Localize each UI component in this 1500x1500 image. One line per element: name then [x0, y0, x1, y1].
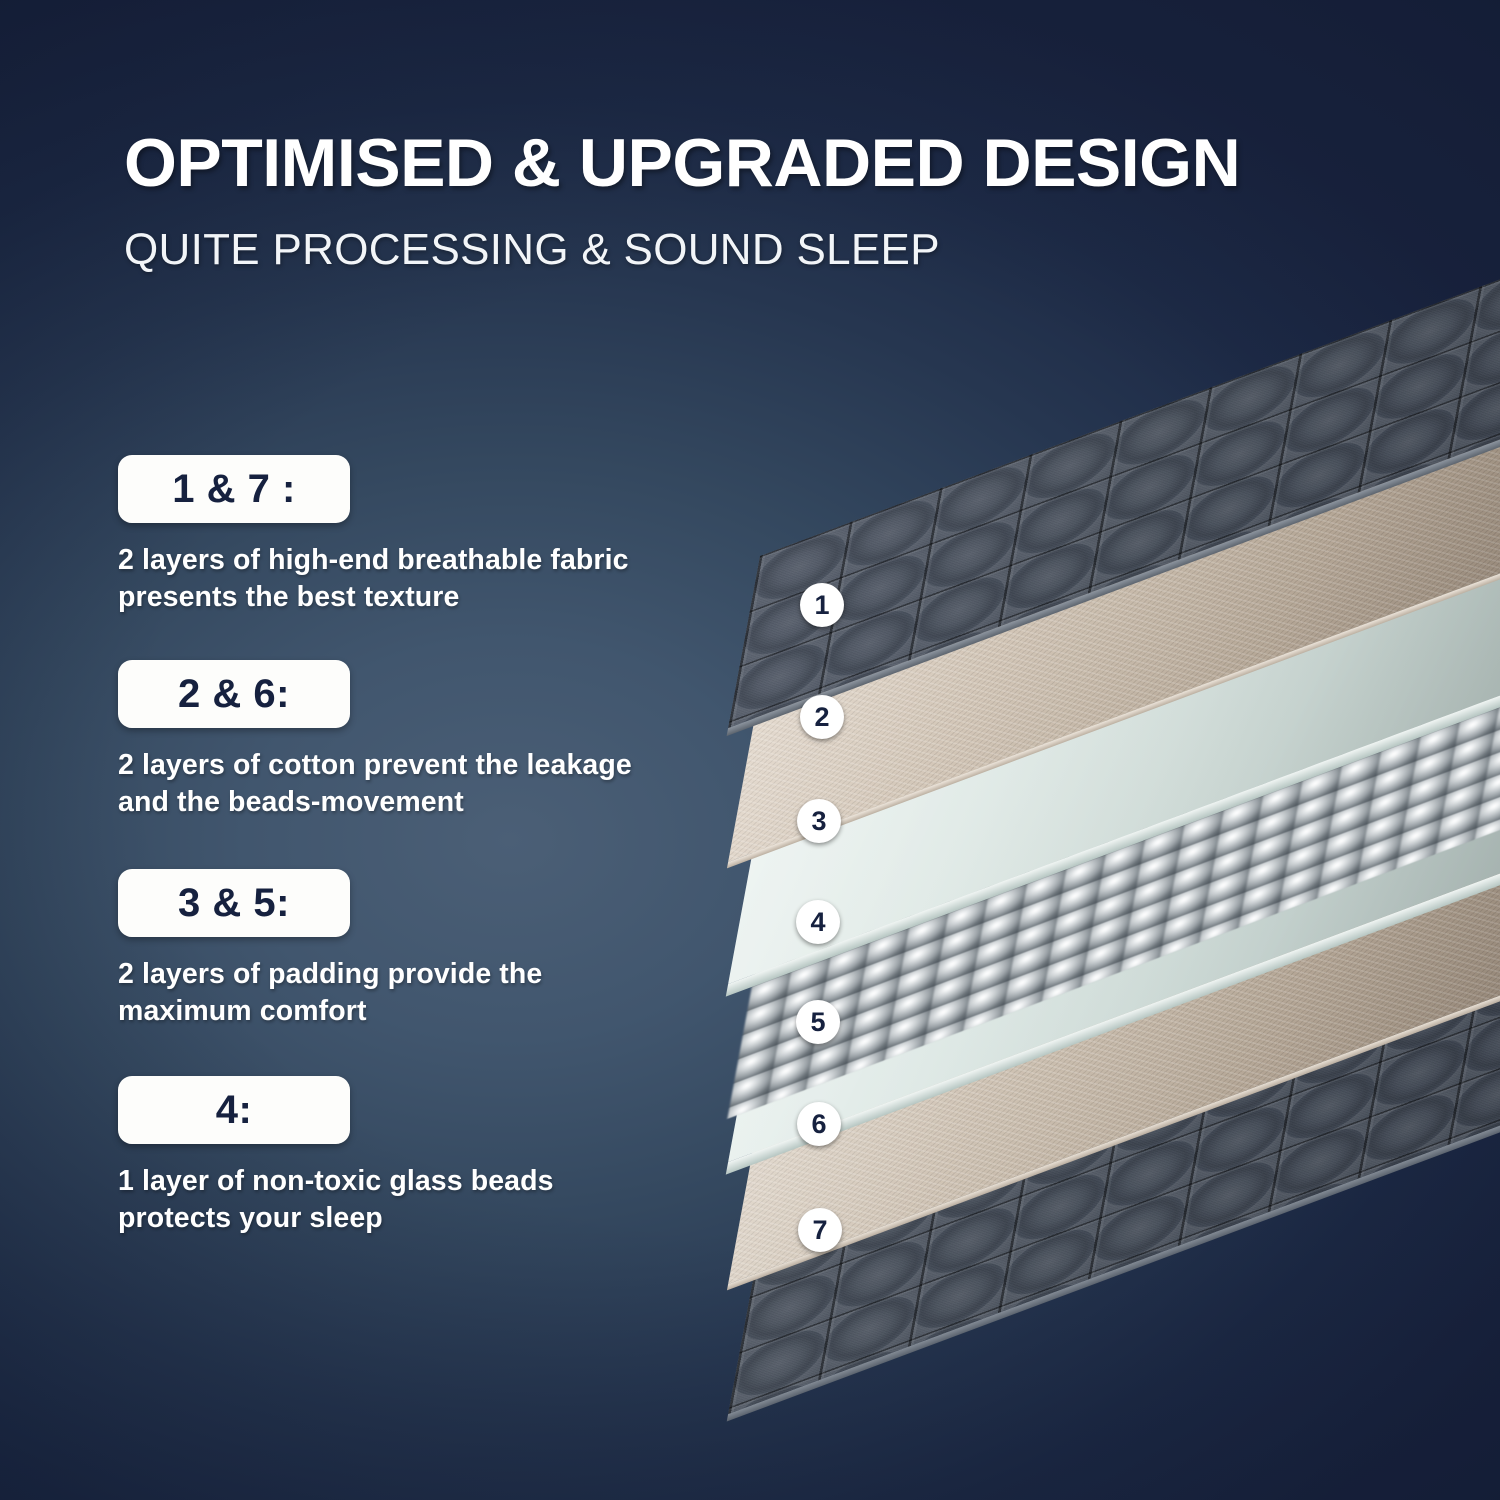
- list-item: 2 & 6: 2 layers of cotton prevent the le…: [118, 660, 678, 821]
- layer-label-badge-3-5: 3 & 5:: [118, 869, 350, 937]
- layer-description-4: 1 layer of non-toxic glass beads protect…: [118, 1163, 663, 1237]
- layer-label-badge-1-7: 1 & 7 :: [118, 455, 350, 523]
- layer-description-list: 1 & 7 : 2 layers of high-end breathable …: [118, 455, 678, 1237]
- layer-description-1-7: 2 layers of high-end breathable fabric p…: [118, 542, 663, 616]
- layer-badge-6: 6: [797, 1102, 841, 1146]
- layer-badge-7: 7: [798, 1208, 842, 1252]
- layer-description-3-5: 2 layers of padding provide the maximum …: [118, 956, 663, 1030]
- list-item: 4: 1 layer of non-toxic glass beads prot…: [118, 1076, 678, 1237]
- list-item: 1 & 7 : 2 layers of high-end breathable …: [118, 455, 678, 616]
- page-subtitle: QUITE PROCESSING & SOUND SLEEP: [124, 225, 1444, 275]
- layer-label-badge-4: 4:: [118, 1076, 350, 1144]
- layer-badge-4: 4: [796, 900, 840, 944]
- layer-label-badge-2-6: 2 & 6:: [118, 660, 350, 728]
- list-item: 3 & 5: 2 layers of padding provide the m…: [118, 869, 678, 1030]
- layer-badge-3: 3: [797, 799, 841, 843]
- layer-badge-2: 2: [800, 695, 844, 739]
- heading-group: OPTIMISED & UPGRADED DESIGN QUITE PROCES…: [124, 128, 1444, 275]
- layer-description-2-6: 2 layers of cotton prevent the leakage a…: [118, 747, 663, 821]
- page-title: OPTIMISED & UPGRADED DESIGN: [124, 128, 1444, 199]
- layer-badge-5: 5: [796, 1000, 840, 1044]
- layer-badge-1: 1: [800, 583, 844, 627]
- infographic-canvas: OPTIMISED & UPGRADED DESIGN QUITE PROCES…: [0, 0, 1500, 1500]
